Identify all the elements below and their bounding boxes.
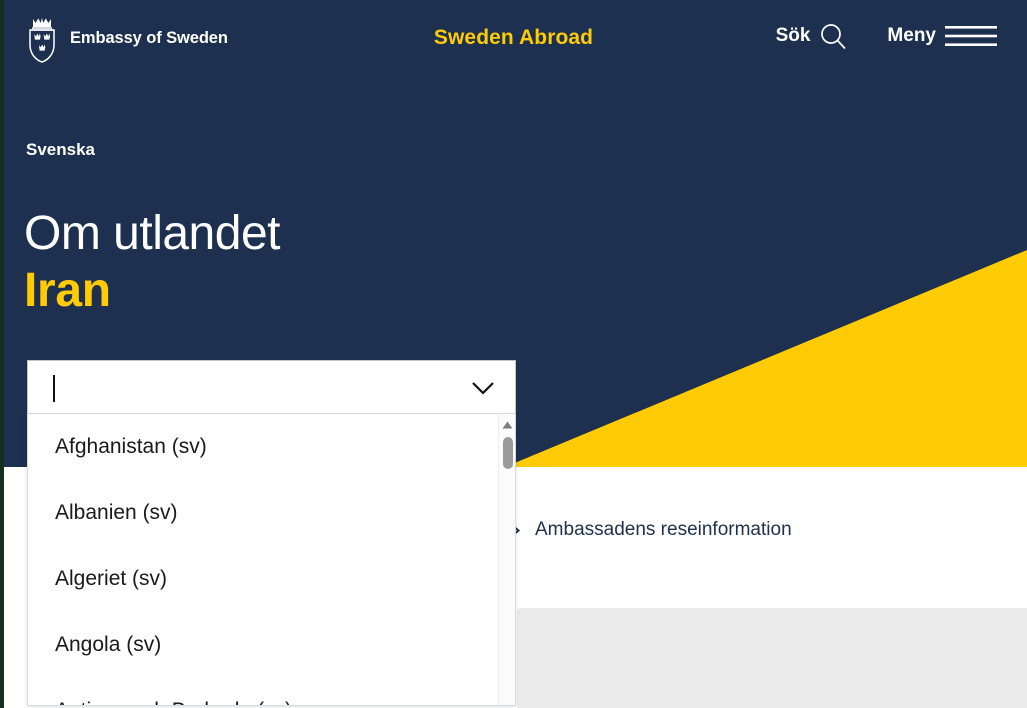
search-label: Sök [776,25,811,47]
listbox-scrollbar[interactable] [498,414,515,706]
country-select-toggle-button[interactable] [461,361,505,415]
text-cursor [53,375,55,402]
country-select-field[interactable] [27,360,516,414]
chevron-down-icon [471,381,495,395]
search-button[interactable]: Sök [776,22,848,50]
top-bar-actions: Sök Meny [776,22,997,50]
top-navigation-bar: Embassy of Sweden Sweden Abroad Sök Meny [0,0,1027,78]
page-title: Om utlandet Iran [24,210,280,316]
menu-button[interactable]: Meny [887,24,997,48]
page-root: Embassy of Sweden Sweden Abroad Sök Meny [0,0,1027,708]
link-label: Ambassadens reseinformation [535,519,792,541]
country-options-listbox[interactable]: Afghanistan (sv) Albanien (sv) Algeriet … [27,414,516,706]
list-item[interactable]: Angola (sv) [28,612,515,678]
content-placeholder-panel [517,608,1027,708]
hamburger-menu-icon [945,24,997,48]
search-icon [819,22,847,50]
list-item[interactable]: Afghanistan (sv) [28,414,515,480]
scroll-up-arrow-icon[interactable] [502,421,513,429]
scroll-thumb[interactable] [503,437,513,469]
list-item[interactable]: Albanien (sv) [28,480,515,546]
list-item[interactable]: Algeriet (sv) [28,546,515,612]
page-title-country: Iran [24,267,280,316]
link-ambassadens-reseinformation[interactable]: Ambassadens reseinformation [510,519,792,541]
country-select-combobox: Afghanistan (sv) Albanien (sv) Algeriet … [27,360,516,706]
language-link-svenska[interactable]: Svenska [26,140,95,160]
country-select-input[interactable] [52,361,467,413]
page-title-line-1: Om utlandet [24,210,280,259]
browser-left-edge [0,0,4,708]
menu-label: Meny [887,25,936,47]
list-item[interactable]: Antigua och Barbuda (sv) [28,678,515,706]
